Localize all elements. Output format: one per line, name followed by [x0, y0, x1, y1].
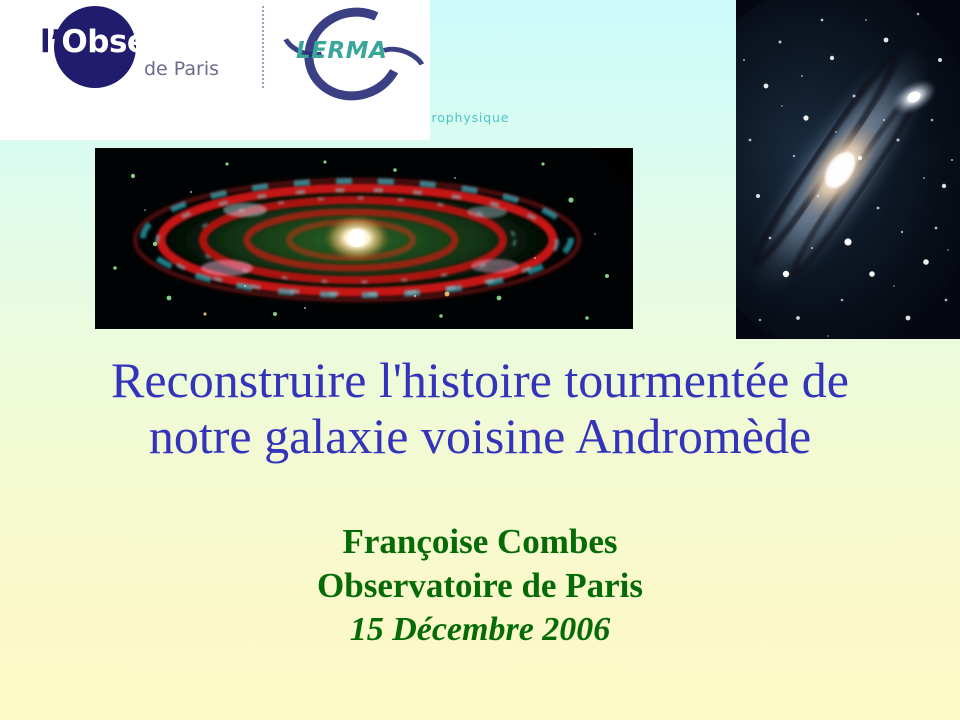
lerma-logo: LERMA	[278, 2, 428, 98]
presentation-slide: l’Observatoire de Paris LERMA Laboratoir…	[0, 0, 960, 720]
slide-title: Reconstruire l'histoire tourmentée de no…	[0, 352, 960, 464]
observatoire-lead-apostrophe: l’	[40, 24, 61, 60]
laboratory-tagline: Laboratoire d'Étude du Rayonnement et de…	[2, 110, 509, 125]
m31-optical-image	[736, 0, 960, 339]
m31-multiwavelength-render	[95, 148, 633, 329]
author-affiliation: Observatoire de Paris	[0, 564, 960, 608]
observatoire-de-paris-logo: l’Observatoire de Paris	[26, 4, 256, 96]
observatoire-word: Observatoire	[61, 24, 283, 60]
presentation-date: 15 Décembre 2006	[0, 608, 960, 652]
author-name: Françoise Combes	[0, 520, 960, 564]
observatoire-subtitle: de Paris	[144, 58, 219, 80]
author-block: Françoise Combes Observatoire de Paris 1…	[0, 520, 960, 652]
title-line-1: Reconstruire l'histoire tourmentée de	[0, 352, 960, 408]
m31-multiwavelength-image	[95, 148, 633, 329]
observatoire-wordmark: l’Observatoire	[40, 24, 283, 60]
logo-divider	[262, 6, 264, 88]
m31-optical-render	[736, 0, 960, 339]
logo-panel: l’Observatoire de Paris LERMA Laboratoir…	[0, 0, 430, 140]
title-line-2: notre galaxie voisine Andromède	[0, 408, 960, 464]
lerma-wordmark: LERMA	[296, 38, 387, 64]
